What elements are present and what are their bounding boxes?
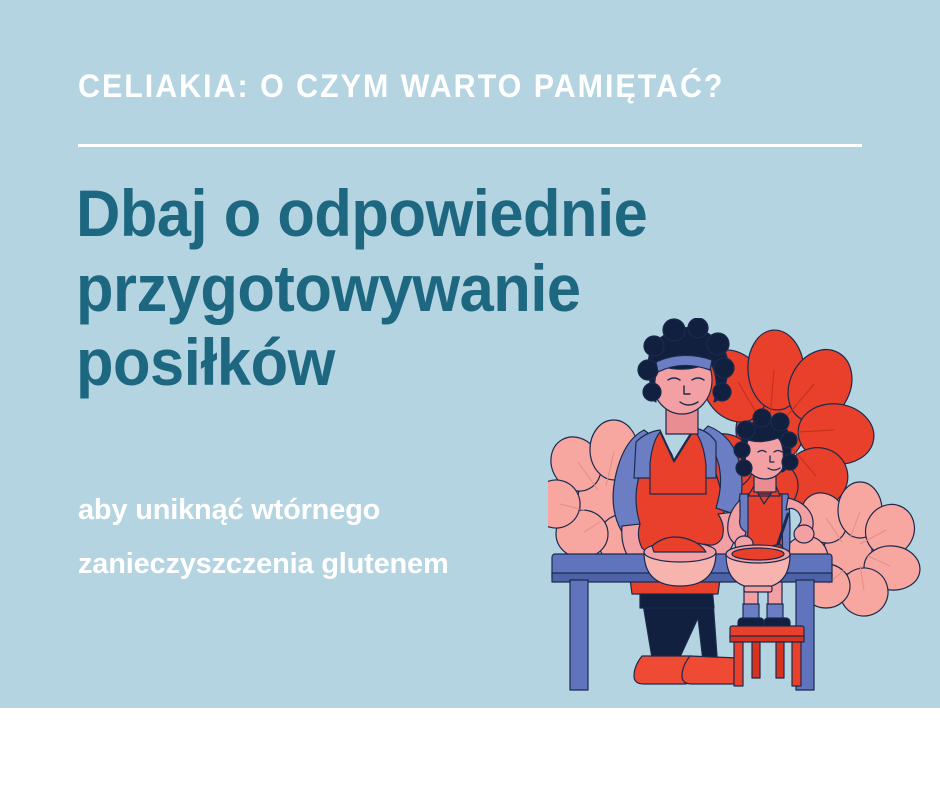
poster-footer: PZH od 1918 r. NARODOWY INSTYTUT ZDROWIA… bbox=[0, 708, 940, 788]
stool-leg-3 bbox=[752, 642, 760, 678]
woman-shoe-right bbox=[682, 656, 740, 684]
mother-and-child-cooking-illustration bbox=[548, 318, 940, 708]
stool-leg-4 bbox=[776, 642, 784, 678]
header-divider-rule bbox=[78, 144, 862, 147]
woman-figure bbox=[613, 318, 742, 684]
subcopy-line-2: zanieczyszczenia glutenem bbox=[78, 538, 618, 592]
headline-line-1: Dbaj o odpowiednie bbox=[76, 176, 727, 251]
step-stool bbox=[730, 626, 804, 686]
bowl-small-mix bbox=[732, 548, 784, 560]
poster-canvas: CELIAKIA: O CZYM WARTO PAMIĘTAĆ? Dbaj o … bbox=[0, 0, 940, 788]
headline-line-2: przygotowywanie bbox=[76, 251, 727, 326]
subcopy-line-1: aby uniknąć wtórnego bbox=[78, 484, 618, 538]
table-leg-left bbox=[570, 580, 588, 690]
poster-main-panel: CELIAKIA: O CZYM WARTO PAMIĘTAĆ? Dbaj o … bbox=[0, 0, 940, 708]
poster-subcopy: aby uniknąć wtórnego zanieczyszczenia gl… bbox=[78, 484, 618, 591]
child-hand-right bbox=[794, 525, 814, 543]
poster-kicker: CELIAKIA: O CZYM WARTO PAMIĘTAĆ? bbox=[78, 69, 838, 104]
stool-leg-2 bbox=[792, 642, 801, 686]
woman-apron-bib bbox=[650, 430, 706, 494]
stool-leg-1 bbox=[734, 642, 743, 686]
